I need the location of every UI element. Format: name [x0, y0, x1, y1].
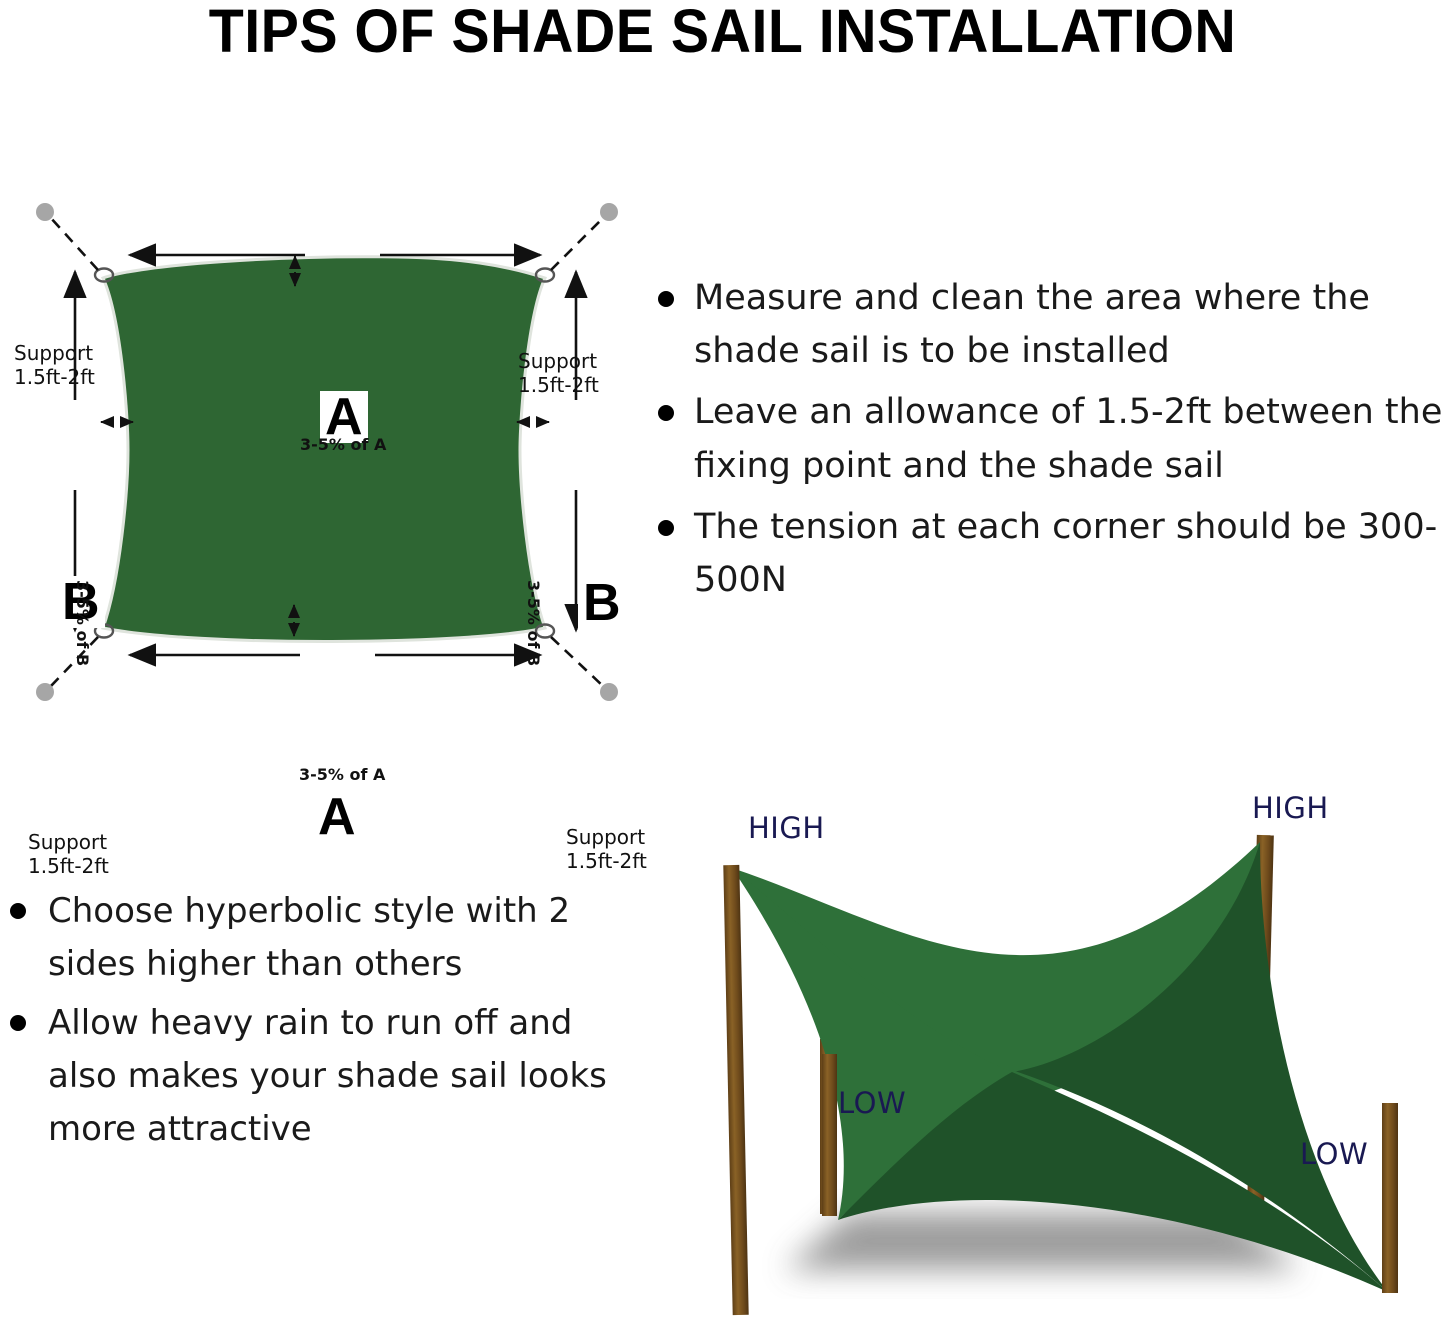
installation-tips-list: Measure and clean the area where the sha… [648, 272, 1445, 615]
post-low-right [1382, 1103, 1398, 1293]
bullet-dot-icon [658, 520, 674, 536]
bullet-dot-icon [658, 405, 674, 421]
list-item-text: Allow heavy rain to run off and also mak… [48, 1003, 607, 1149]
support-label-line2: 1.5ft-2ft [518, 374, 599, 398]
list-item-text: Measure and clean the area where the sha… [694, 278, 1370, 371]
support-label-line1: Support [566, 826, 647, 850]
support-label-top-left: Support 1.5ft-2ft [14, 342, 95, 389]
page-title: TIPS OF SHADE SAIL INSTALLATION [43, 0, 1401, 66]
support-label-line1: Support [28, 831, 109, 855]
support-label-line1: Support [14, 342, 95, 366]
list-item: Allow heavy rain to run off and also mak… [4, 997, 629, 1156]
list-item: Leave an allowance of 1.5-2ft between th… [648, 386, 1445, 492]
support-label-line2: 1.5ft-2ft [566, 850, 647, 874]
hyperbolic-sail-svg [660, 780, 1445, 1319]
curve-label-bottom: 3-5% of A [299, 765, 385, 784]
curve-label-right: 3-5% of B [524, 580, 543, 666]
support-label-bottom-right: Support 1.5ft-2ft [566, 826, 647, 873]
list-item: Choose hyperbolic style with 2 sides hig… [4, 885, 629, 991]
tips-left-ul: Choose hyperbolic style with 2 sides hig… [4, 885, 629, 1156]
label-low-left: LOW [838, 1086, 906, 1120]
support-label-line1: Support [518, 350, 599, 374]
rect-sail-diagram: Support 1.5ft-2ft Support 1.5ft-2ft Supp… [0, 160, 660, 730]
label-high-left: HIGH [748, 811, 825, 845]
label-low-right: LOW [1300, 1137, 1368, 1171]
hyperbolic-sail-diagram: HIGH HIGH LOW LOW [660, 780, 1445, 1319]
bullet-dot-icon [658, 291, 674, 307]
bullet-dot-icon [10, 1015, 26, 1031]
bullet-dot-icon [10, 903, 26, 919]
list-item-text: Choose hyperbolic style with 2 sides hig… [48, 891, 570, 984]
support-label-line2: 1.5ft-2ft [14, 366, 95, 390]
list-item: The tension at each corner should be 300… [648, 501, 1445, 607]
support-label-line2: 1.5ft-2ft [28, 855, 109, 879]
post-low-left-front [822, 1054, 837, 1216]
support-label-bottom-left: Support 1.5ft-2ft [28, 831, 109, 878]
curve-label-top: 3-5% of A [300, 435, 386, 454]
label-high-right: HIGH [1252, 791, 1329, 825]
post-high-left [723, 865, 748, 1315]
tips-right-ul: Measure and clean the area where the sha… [648, 272, 1445, 607]
list-item-text: The tension at each corner should be 300… [694, 507, 1437, 600]
dimension-letter-b-right: B [578, 577, 626, 629]
support-label-top-right: Support 1.5ft-2ft [518, 350, 599, 397]
list-item-text: Leave an allowance of 1.5-2ft between th… [694, 392, 1442, 485]
hyperbolic-style-tips-list: Choose hyperbolic style with 2 sides hig… [4, 885, 629, 1162]
dimension-letter-a-bottom: A [313, 791, 361, 843]
list-item: Measure and clean the area where the sha… [648, 272, 1445, 378]
curve-label-left: 3-5% of B [73, 580, 92, 666]
infographic-page: TIPS OF SHADE SAIL INSTALLATION [0, 0, 1445, 1319]
